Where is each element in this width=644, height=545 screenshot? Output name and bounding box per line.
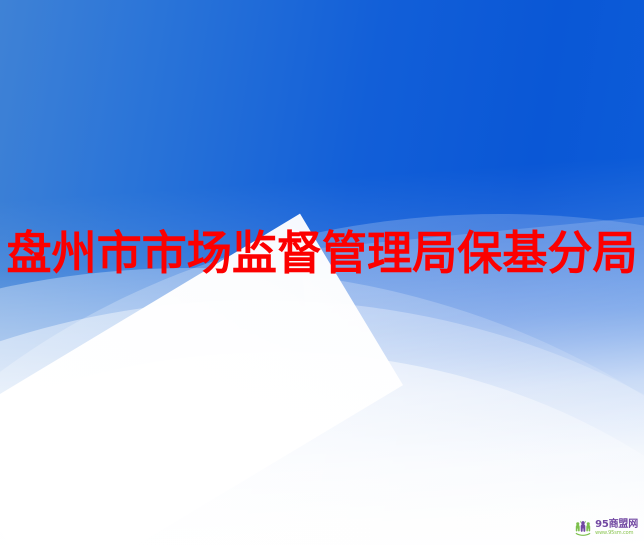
decorative-swoosh-middle <box>0 300 644 545</box>
watermark-site-url: www.95sm.com <box>595 531 638 536</box>
site-watermark: 95商盟网 www.95sm.com <box>574 519 638 537</box>
decorative-swoosh-core <box>0 352 644 545</box>
watermark-site-name: 95商盟网 <box>595 520 638 530</box>
people-figure-logo-icon <box>574 519 592 537</box>
page-title: 盘州市市场监督管理局保基分局 <box>6 230 637 276</box>
decorative-swoosh-outer <box>0 268 644 545</box>
banner-title-band: 盘州市市场监督管理局保基分局 <box>0 222 644 284</box>
watermark-text: 95商盟网 www.95sm.com <box>595 520 638 536</box>
organization-banner-image: 盘州市市场监督管理局保基分局 95商盟网 www.95sm.com <box>0 0 644 545</box>
